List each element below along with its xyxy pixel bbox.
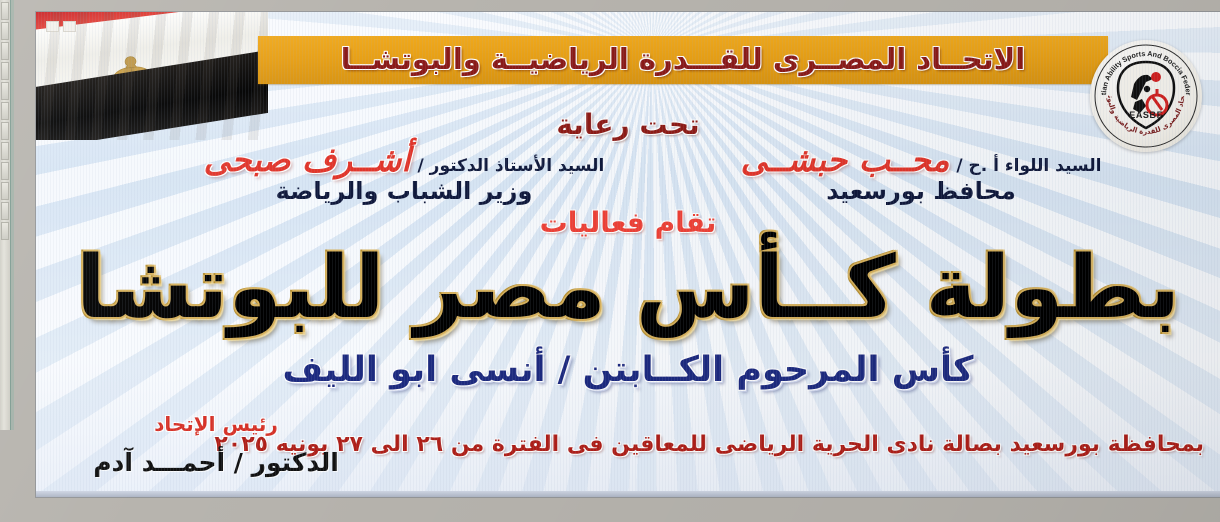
minister-role: وزير الشباب والرياضة [184,177,624,205]
poster-title: بطولة كــأس مصر للبوتشا [36,240,1220,336]
poster-subtitle: كأس المرحوم الكــابتن / أنسى ابو الليف [36,350,1220,390]
tool-shape-icon[interactable] [1,182,9,200]
signature-block: رئيس الإتحاد الدكتور / أحمـــد آدم [66,412,366,477]
tool-eraser-icon[interactable] [1,122,9,140]
tool-marquee-icon[interactable] [1,22,9,40]
toolbox-edge [11,0,14,430]
signature-name: الدكتور / أحمـــد آدم [66,448,366,477]
governor-role: محافظ بورسعيد [686,177,1156,205]
minister-name: أشــرف صبحى [204,140,411,179]
federation-banner-title: الاتحــاد المصــرى للقـــدرة الرياضيــة … [258,30,1108,88]
venue-and-dates: بمحافظة بورسعيد بصالة نادى الحرية الرياض… [306,432,1204,457]
tool-crop-icon[interactable] [1,82,9,100]
tool-wand-icon[interactable] [1,62,9,80]
minister-block: السيد الأستاذ الدكتور / أشــرف صبحى وزير… [184,140,624,205]
tool-move-icon[interactable] [1,2,9,20]
minister-honorific: السيد الأستاذ الدكتور / [418,156,605,176]
tool-lasso-icon[interactable] [1,42,9,60]
governor-block: السيد اللواء أ .ح / محــب حبشــى محافظ ب… [686,140,1156,205]
poster-canvas: الاتحــاد المصــرى للقـــدرة الرياضيــة … [36,12,1220,497]
tool-gradient-icon[interactable] [1,142,9,160]
editor-toolbox[interactable] [0,0,11,430]
tool-zoom-icon[interactable] [1,222,9,240]
events-label: تقام فعاليات [36,206,1220,239]
patronage-label: تحت رعاية [36,108,1220,141]
image-corner-badges [46,21,76,32]
governor-name: محــب حبشــى [741,140,950,179]
tool-brush-icon[interactable] [1,102,9,120]
screen: الاتحــاد المصــرى للقـــدرة الرياضيــة … [0,0,1220,522]
poster-bottom-edge [36,491,1220,497]
tool-hand-icon[interactable] [1,202,9,220]
signature-role: رئيس الإتحاد [66,412,366,436]
tool-text-icon[interactable] [1,162,9,180]
governor-honorific: السيد اللواء أ .ح / [956,156,1101,176]
